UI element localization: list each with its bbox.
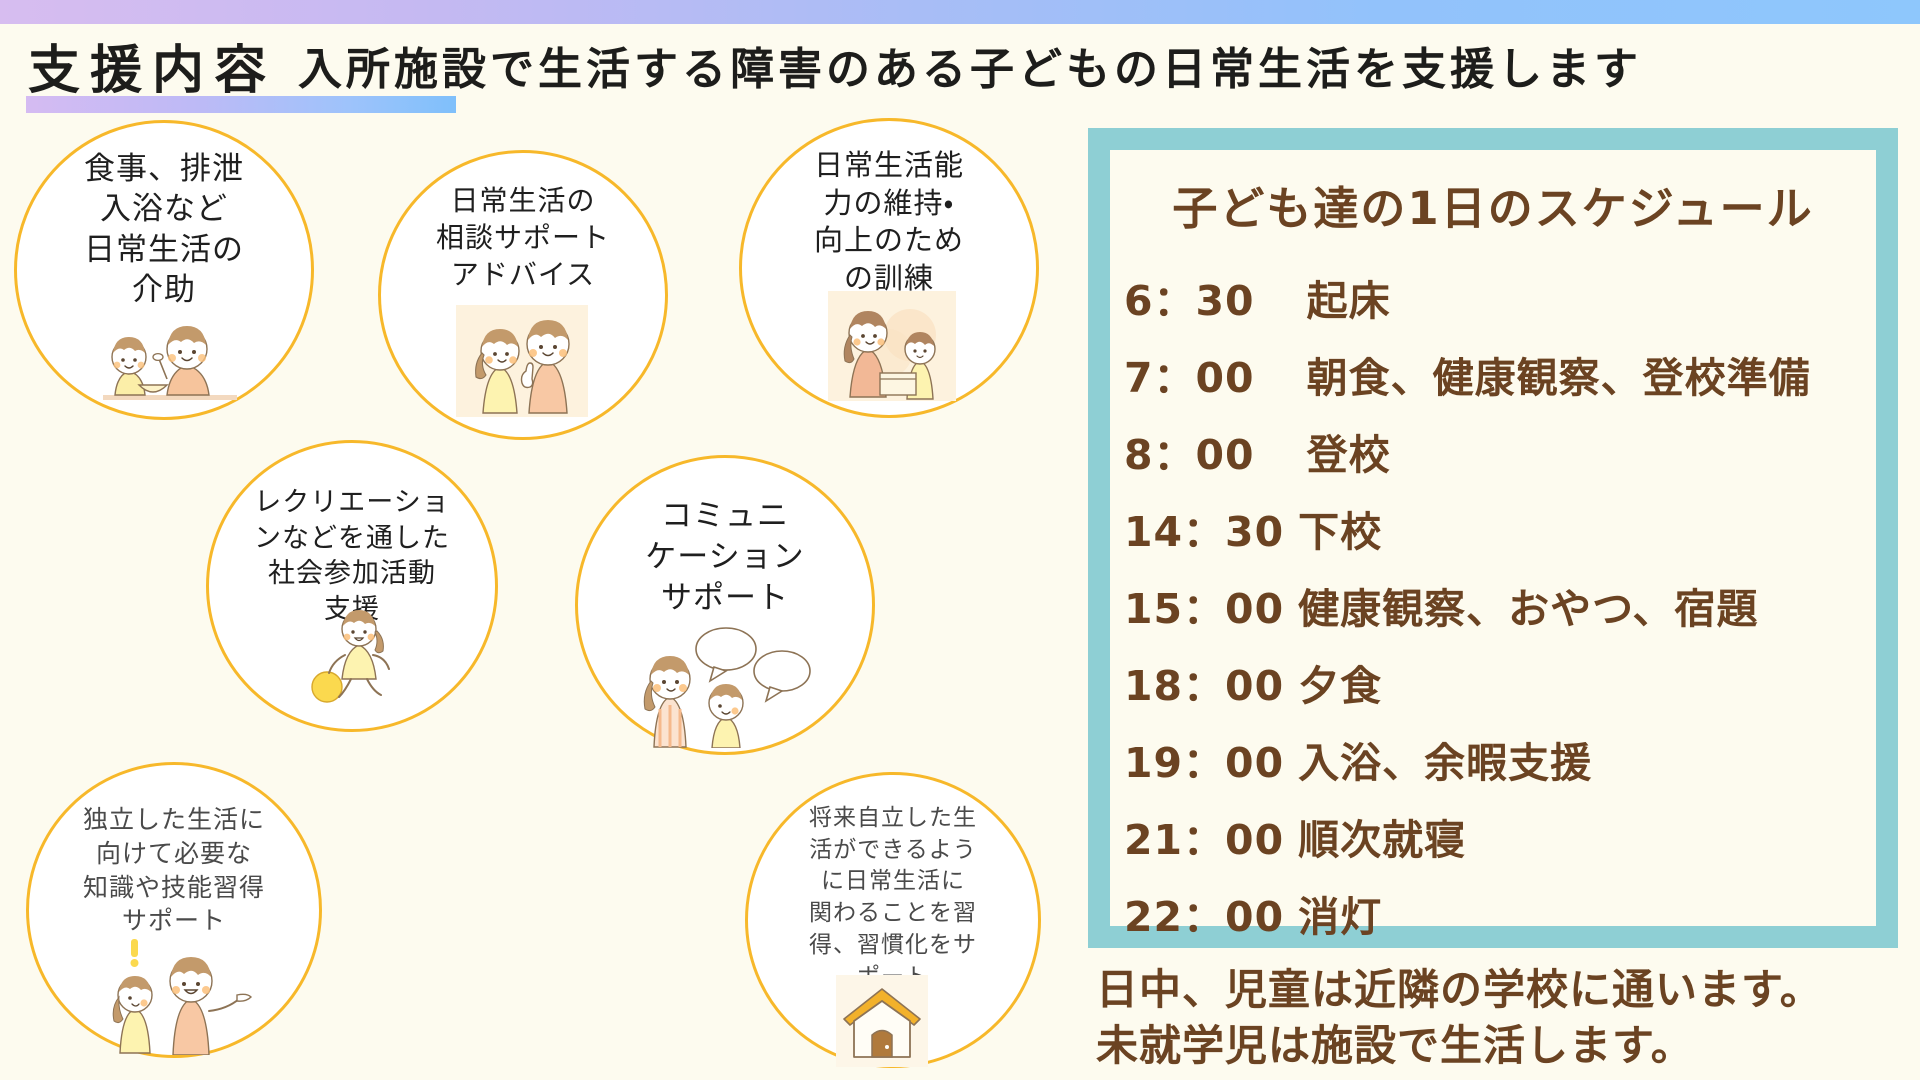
schedule-activity: 消灯 [1298, 883, 1382, 943]
schedule-row: 21：00 順次就寝 [1120, 806, 1866, 866]
schedule-row: 19：00 入浴、余暇支援 [1120, 729, 1866, 789]
footer-note: 日中、児童は近隣の学校に通います。 未就学児は施設で生活します。 [1096, 962, 1916, 1075]
support-circle-label: 日常生活の 相談サポート アドバイス [436, 183, 610, 294]
title-underline-bar [26, 96, 456, 113]
schedule-row: 6：30 起床 [1120, 267, 1866, 327]
support-circle-label: 独立した生活に 向けて必要な 知識や技能習得 サポート [83, 803, 265, 938]
top-gradient-bar [0, 0, 1920, 24]
support-circle-future-independence-habit-support: 将来自立した生 活ができるよう に日常生活に 関わることを習 得、習慣化をサ ポ… [745, 772, 1041, 1068]
page-title: 支援内容 [0, 28, 276, 103]
schedule-panel-inner: 子ども達の1日のスケジュール 6：30 起床 7：00 朝食、健康観察、登校準備… [1110, 150, 1876, 926]
schedule-time: 18：00 [1124, 652, 1284, 712]
schedule-row: 18：00 夕食 [1120, 652, 1866, 712]
house-icon [836, 975, 928, 1067]
slide-root: 支援内容 入所施設で生活する障害のある子どもの日常生活を支援します 食事、排泄 … [0, 0, 1920, 1080]
schedule-activity: 健康観察、おやつ、宿題 [1298, 575, 1758, 635]
schedule-row: 22：00 消灯 [1120, 883, 1866, 943]
support-circle-daily-living-ability-training: 日常生活能 力の維持・ 向上のため の訓練 [739, 118, 1039, 418]
schedule-row: 14：30 下校 [1120, 498, 1866, 558]
schedule-time: 19：00 [1124, 729, 1284, 789]
schedule-panel: 子ども達の1日のスケジュール 6：30 起床 7：00 朝食、健康観察、登校準備… [1088, 128, 1898, 948]
schedule-activity: 登校 [1307, 421, 1391, 481]
schedule-activity: 朝食、健康観察、登校準備 [1307, 344, 1811, 404]
schedule-time: 14：30 [1124, 498, 1284, 558]
support-circle-recreation-social-participation-support: レクリエーショ ンなどを通した 社会参加活動 支援 [206, 440, 498, 732]
support-circle-independent-living-knowledge-support: 独立した生活に 向けて必要な 知識や技能習得 サポート [26, 762, 322, 1058]
schedule-title: 子ども達の1日のスケジュール [1120, 172, 1866, 237]
support-circle-daily-life-consultation-support: 日常生活の 相談サポート アドバイス [378, 150, 668, 440]
girl-playing-ball-icon [297, 601, 407, 711]
schedule-activity: 夕食 [1298, 652, 1382, 712]
girl-and-boy-talking-icon [456, 305, 588, 417]
page-subtitle: 入所施設で生活する障害のある子どもの日常生活を支援します [276, 33, 1642, 97]
girl-and-boy-pointing-icon [91, 937, 261, 1055]
schedule-row: 8：00 登校 [1120, 421, 1866, 481]
support-circle-label: コミュニ ケーション サポート [645, 496, 804, 619]
support-circle-label: 日常生活能 力の維持・ 向上のため の訓練 [814, 147, 964, 298]
two-children-eating-icon [95, 313, 245, 413]
schedule-row: 7：00 朝食、健康観察、登校準備 [1120, 344, 1866, 404]
schedule-row: 15：00 健康観察、おやつ、宿題 [1120, 575, 1866, 635]
schedule-activity: 入浴、余暇支援 [1298, 729, 1592, 789]
caregiver-and-child-icon [828, 291, 956, 401]
schedule-time: 6：30 [1124, 267, 1255, 327]
support-circle-label: 食事、排泄 入浴など 日常生活の 介助 [84, 149, 244, 310]
slide-header: 支援内容 入所施設で生活する障害のある子どもの日常生活を支援します [0, 24, 1920, 106]
support-circle-meal-toilet-bath-assistance: 食事、排泄 入浴など 日常生活の 介助 [14, 120, 314, 420]
schedule-activity: 下校 [1298, 498, 1382, 558]
schedule-time: 15：00 [1124, 575, 1284, 635]
schedule-time: 21：00 [1124, 806, 1284, 866]
schedule-time: 7：00 [1124, 344, 1255, 404]
support-circle-communication-support: コミュニ ケーション サポート [575, 455, 875, 755]
schedule-time: 8：00 [1124, 421, 1255, 481]
schedule-activity: 順次就寝 [1298, 806, 1466, 866]
support-circle-label: 将来自立した生 活ができるよう に日常生活に 関わることを習 得、習慣化をサ ポ… [809, 803, 977, 993]
schedule-time: 22：00 [1124, 883, 1284, 943]
schedule-activity: 起床 [1307, 267, 1391, 327]
two-children-speech-bubbles-icon [630, 623, 820, 748]
